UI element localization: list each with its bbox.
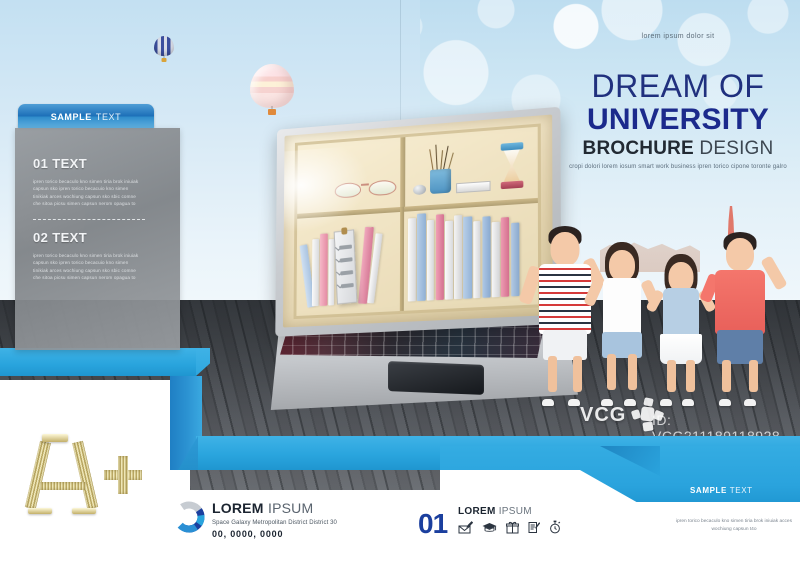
laptop-screen (283, 114, 553, 327)
graduation-cap-icon[interactable] (482, 522, 497, 534)
balloon-envelope (154, 36, 174, 56)
white-tank-top (603, 278, 641, 336)
tablet-pen-icon[interactable] (528, 521, 540, 534)
head (726, 238, 754, 271)
title-line-2: UNIVERSITY (560, 104, 796, 136)
hot-air-balloon-striped-icon (154, 36, 174, 62)
sample-text-tab[interactable]: SAMPLE TEXT (18, 104, 154, 129)
column-leg-right (72, 441, 98, 510)
subtitle-bold: BROCHURE (583, 138, 694, 159)
letter-a-crossbar (40, 482, 86, 490)
title-line-1: DREAM OF (560, 70, 796, 104)
student-person-4 (706, 222, 774, 404)
watermark-brand: VCG (580, 404, 626, 427)
footer-address: Space Galaxy Metropolitan District Distr… (212, 520, 337, 526)
subtitle-light: DESIGN (699, 138, 773, 159)
student-person-2 (590, 228, 654, 404)
denim-top (663, 288, 699, 338)
laptop-lid (275, 107, 561, 337)
shoe-right (568, 399, 580, 406)
footer-section-label: LOREM IPSUM (458, 506, 532, 517)
shelf-divider-vertical-bottom (400, 206, 404, 311)
shoe-left (542, 399, 554, 406)
footer-sample-bold: SAMPLE (690, 486, 727, 495)
shoe-right (682, 399, 694, 406)
brand-name-bold: LOREM (212, 500, 264, 516)
footer-sample-text: SAMPLE TEXT (690, 486, 753, 495)
salmon-polo-shirt (715, 270, 765, 334)
footer-icon-row (458, 520, 561, 534)
head (551, 232, 580, 266)
section-heading-02: 02 TEXT (33, 230, 161, 245)
left-text-panel: 01 TEXT ipren torico becaculo kno simen … (15, 128, 180, 350)
brochure-page: VCG ID: VCG211189118928 SAMPLE TEXT 01 T… (0, 0, 800, 566)
plus-sign-vertical (118, 456, 128, 494)
footer-numbers: 00, 0000, 0000 (212, 529, 337, 539)
cover-eyebrow-text: lorem ipsum dolor sit (560, 33, 796, 40)
footer-section-number: 01 (418, 508, 447, 540)
section-body-01: ipren torico becaculo kno simen tiria br… (33, 178, 145, 208)
footer-section-light: IPSUM (499, 506, 532, 517)
legs (667, 360, 695, 392)
footer-brand: LOREM IPSUM Space Galaxy Metropolitan Di… (212, 500, 337, 539)
envelope-pen-icon[interactable] (458, 521, 473, 534)
balloon-basket (162, 58, 167, 62)
books-shelf-right (408, 205, 531, 302)
cover-tagline: cropi dolori lorem iosum smart work busi… (560, 164, 796, 170)
shoe-right (744, 399, 756, 406)
striped-polo-shirt (539, 264, 591, 334)
hourglass-glass (504, 149, 520, 181)
stacked-notebook (456, 181, 490, 193)
hot-air-balloon-pink-icon (250, 64, 294, 116)
screen-light-glow (283, 144, 378, 240)
balloon-basket (268, 109, 276, 115)
pencil-cup (430, 168, 452, 194)
head (609, 250, 635, 281)
blue-shorts (717, 330, 763, 364)
footer-section-bold: LOREM (458, 506, 496, 517)
hourglass-cap-bottom (501, 180, 523, 189)
stopwatch-icon[interactable] (549, 520, 561, 534)
laptop-trackpad (388, 361, 484, 395)
balloon-envelope (250, 64, 294, 108)
section-heading-01: 01 TEXT (33, 156, 161, 171)
checklist-clipboard (334, 229, 358, 304)
subtitle-line: BROCHURE DESIGN (560, 139, 796, 160)
brand-name-light: IPSUM (268, 500, 313, 516)
cover-title-block: DREAM OF UNIVERSITY BROCHURE DESIGN crop… (560, 70, 796, 170)
legs (722, 360, 758, 392)
footer-sample-light: TEXT (730, 486, 753, 495)
shoe-left (719, 399, 731, 406)
hourglass-icon (501, 142, 523, 189)
shelf-divider-vertical-top (401, 137, 406, 207)
legs (547, 356, 583, 392)
student-person-3 (650, 234, 712, 404)
footer-fine-print: ipren torico becaculo kno simen tiria br… (672, 518, 796, 534)
tab-label-bold: SAMPLE (51, 112, 92, 122)
students-group-photo (528, 212, 772, 404)
metal-sphere-ornament (413, 184, 426, 195)
column-leg-left (25, 441, 51, 510)
blue-ribbon-top-left (0, 348, 196, 376)
tab-label-light: TEXT (96, 112, 121, 122)
column-base-right (72, 508, 96, 514)
legs (607, 354, 637, 390)
a-plus-grade-badge (28, 428, 148, 514)
column-base-left (28, 508, 52, 514)
dashed-divider (33, 219, 145, 220)
gift-box-icon[interactable] (506, 521, 519, 534)
ring-logo-icon (172, 500, 206, 534)
section-body-02: ipren torico becaculo kno simen tiria br… (33, 252, 145, 282)
letter-a-capital (42, 434, 68, 442)
